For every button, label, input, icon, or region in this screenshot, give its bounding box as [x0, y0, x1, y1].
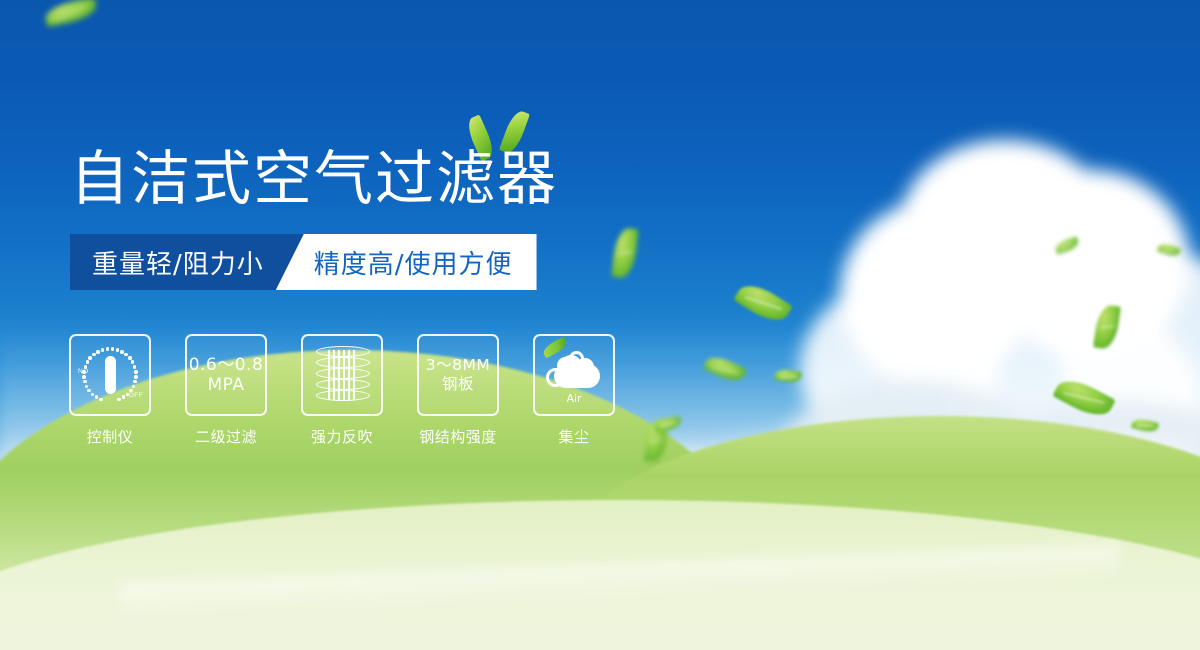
gauge-tick-dot	[92, 353, 96, 357]
gauge-tick-dot	[131, 360, 135, 364]
gauge-tick-dot	[95, 395, 99, 399]
page-title: 自洁式空气过滤器	[70, 143, 558, 215]
gauge-tick-dot	[134, 375, 138, 379]
badge-right-label: 精度高/使用方便	[314, 244, 513, 281]
cloud-body	[554, 364, 600, 388]
gauge-tick-dot	[99, 398, 103, 402]
badge-segment-right: 精度高/使用方便	[276, 234, 537, 290]
gauge-tick-dot	[86, 360, 90, 364]
feature-item-controller[interactable]: NO OFF 控制仪	[70, 334, 150, 447]
feature-item-backblow[interactable]: 强力反吹	[302, 334, 382, 447]
gauge-tick-dot	[96, 350, 100, 354]
feature-icon-box: 3～8MM 钢板	[417, 334, 499, 416]
gauge-tick-dot	[116, 348, 120, 352]
feature-label: 控制仪	[87, 426, 134, 447]
banner-content: 自洁式空气过滤器 重量轻/阻力小 精度高/使用方便 NO OFF	[0, 0, 1200, 650]
feature-label: 二级过滤	[195, 426, 257, 447]
feature-badge: 重量轻/阻力小 精度高/使用方便	[70, 234, 537, 290]
cartridge-disc	[316, 379, 370, 390]
gauge-tick-dot	[87, 389, 91, 393]
gauge-tick-dot	[129, 389, 133, 393]
feature-list: NO OFF 控制仪 0.6～0.8 MPA 二级过滤	[70, 334, 614, 447]
gauge-label-off: OFF	[129, 392, 143, 399]
gauge-tick-dot	[128, 356, 132, 360]
gauge-tick-dot	[133, 365, 137, 369]
gauge-tick-dot	[83, 380, 87, 384]
gauge-tick-dot	[117, 398, 121, 402]
gauge-needle-icon	[105, 356, 116, 394]
gauge-tick-dot	[91, 393, 95, 397]
cartridge-disc	[316, 390, 370, 401]
cartridge-disc	[316, 357, 370, 368]
cartridge-disc	[316, 346, 370, 357]
gauge-tick-dot	[122, 395, 126, 399]
pressure-value-icon: 0.6～0.8 MPA	[189, 355, 264, 395]
gauge-tick-dot	[82, 375, 86, 379]
gauge-tick-dot	[120, 350, 124, 354]
gauge-tick-dot	[101, 348, 105, 352]
steel-line-2: 钢板	[426, 375, 490, 394]
gauge-tick-dot	[85, 385, 89, 389]
feature-label: 钢结构强度	[419, 426, 497, 447]
feature-icon-box	[301, 334, 383, 416]
gauge-tick-dot	[82, 370, 86, 374]
feature-item-steel-strength[interactable]: 3～8MM 钢板 钢结构强度	[418, 334, 498, 447]
feature-item-secondary-filter[interactable]: 0.6～0.8 MPA 二级过滤	[186, 334, 266, 447]
gauge-tick-dot	[111, 347, 115, 351]
badge-segment-left: 重量轻/阻力小	[70, 234, 304, 290]
gauge-tick-dot	[106, 347, 110, 351]
air-label: Air	[544, 392, 604, 405]
pressure-line-1: 0.6～0.8	[189, 355, 264, 375]
gauge-dial-icon: NO OFF	[79, 344, 141, 406]
feature-icon-box: Air	[533, 334, 615, 416]
feature-label: 集尘	[558, 426, 589, 447]
air-leaf-icon	[541, 337, 569, 359]
filter-cartridge-icon	[316, 346, 368, 404]
feature-icon-box: NO OFF	[69, 334, 151, 416]
feature-icon-box: 0.6～0.8 MPA	[185, 334, 267, 416]
gauge-tick-dot	[84, 365, 88, 369]
gauge-tick-dot	[132, 385, 136, 389]
steel-line-1: 3～8MM	[426, 356, 490, 375]
feature-item-dust-collection[interactable]: Air 集尘	[534, 334, 614, 447]
badge-left-label: 重量轻/阻力小	[92, 244, 264, 281]
product-hero-banner: 自洁式空气过滤器 重量轻/阻力小 精度高/使用方便 NO OFF	[0, 0, 1200, 650]
steel-plate-icon: 3～8MM 钢板	[426, 356, 490, 394]
gauge-tick-dot	[88, 356, 92, 360]
gauge-tick-dot	[134, 370, 138, 374]
air-cloud-icon: Air	[544, 348, 604, 402]
feature-label: 强力反吹	[311, 426, 373, 447]
cartridge-disc	[316, 368, 370, 379]
gauge-tick-dot	[133, 380, 137, 384]
pressure-line-2: MPA	[189, 375, 264, 395]
